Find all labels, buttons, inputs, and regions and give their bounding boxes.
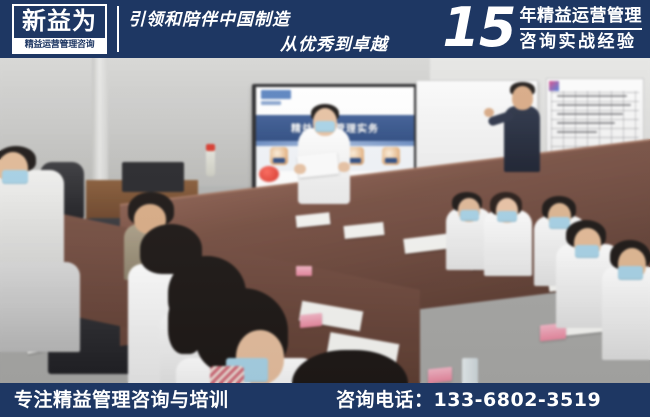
face-mask: [460, 210, 479, 221]
screen-red-marker: [259, 166, 279, 182]
years-text-group: 年精益运营管理 咨询实战经验: [520, 5, 643, 53]
name-card: [296, 266, 312, 276]
experience-highlight: 15 年精益运营管理 咨询实战经验: [442, 0, 642, 58]
presenter-hand: [294, 164, 306, 174]
participant-coat: [0, 170, 64, 266]
face-mask: [575, 245, 599, 258]
slide-logo-icon: [261, 90, 291, 99]
whiteboard-sticker-icon: [549, 81, 559, 91]
trainer-hand: [484, 108, 494, 117]
participant-shirt: [602, 266, 650, 360]
whiteboard-note: [557, 104, 631, 106]
face-mask: [2, 170, 28, 184]
whiteboard-note: [557, 95, 627, 97]
slogan-line-2: 从优秀到卓越: [280, 30, 388, 55]
name-card: [300, 313, 322, 328]
face-mask: [497, 211, 517, 222]
water-bottle: [206, 148, 215, 176]
name-card: [428, 367, 452, 383]
participant-trousers: [0, 262, 80, 352]
years-rule: [520, 28, 643, 30]
company-logo[interactable]: 新益为 精益运营管理咨询: [12, 4, 107, 54]
header-divider: [117, 6, 119, 52]
face-mask: [315, 121, 335, 132]
training-scene-photo: 精益现场管理实务: [0, 58, 650, 383]
participant-collar: [210, 366, 244, 383]
whiteboard-note: [557, 113, 623, 115]
footer-tagline: 专注精益管理咨询与培训: [14, 383, 229, 417]
whiteboard-note: [557, 122, 615, 124]
logo-subtitle: 精益运营管理咨询: [14, 38, 105, 52]
slide-hand-icon: [270, 147, 288, 165]
bottle-cap: [206, 144, 215, 151]
banner-footer: 专注精益管理咨询与培训 咨询电话：133-6802-3519: [0, 383, 650, 417]
trainer-head: [512, 86, 533, 110]
slide-hand-icon: [382, 147, 400, 165]
company-slogan: 引领和陪伴中国制造 从优秀到卓越: [128, 3, 398, 55]
years-line-2: 咨询实战经验: [520, 31, 643, 53]
water-glass: [462, 358, 478, 383]
promo-banner: 新益为 精益运营管理咨询 引领和陪伴中国制造 从优秀到卓越 15 年精益运营管理…: [0, 0, 650, 417]
whiteboard-note: [557, 131, 597, 133]
years-line-1: 年精益运营管理: [520, 5, 643, 27]
presenter-hand: [338, 162, 350, 172]
slogan-line-1: 引领和陪伴中国制造: [128, 5, 290, 30]
years-number: 15: [442, 1, 515, 55]
slide-logo-subline: [261, 101, 281, 105]
back-monitor: [122, 162, 184, 192]
logo-name: 新益为: [12, 5, 107, 37]
footer-phone[interactable]: 咨询电话：133-6802-3519: [336, 383, 601, 417]
banner-header: 新益为 精益运营管理咨询 引领和陪伴中国制造 从优秀到卓越 15 年精益运营管理…: [0, 0, 650, 58]
face-mask: [618, 266, 643, 280]
